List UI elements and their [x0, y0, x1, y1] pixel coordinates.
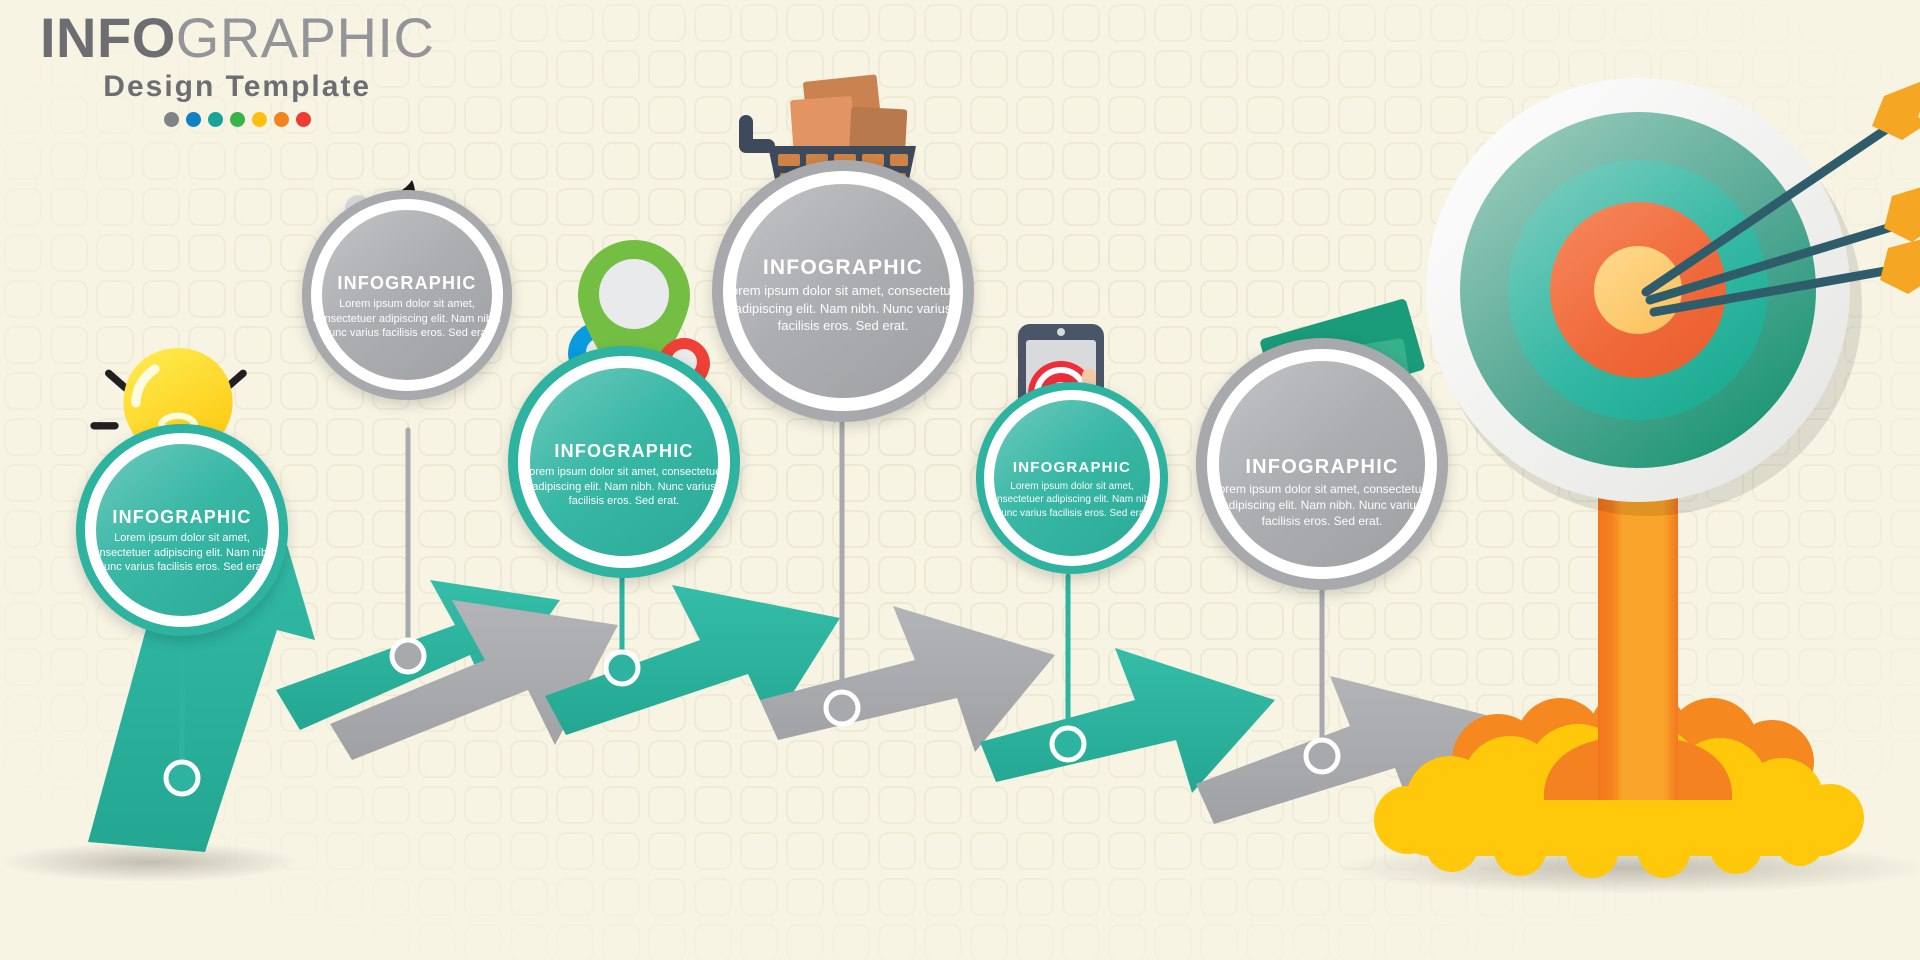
step-3-text: INFOGRAPHIC Lorem ipsum dolor sit amet, … [508, 442, 740, 509]
arrow-fletchings [1872, 78, 1920, 294]
title-thin-part: GRAPHIC [176, 6, 435, 69]
step-node-6[interactable]: INFOGRAPHIC Lorem ipsum dolor sit amet, … [1196, 338, 1448, 590]
step-4-body: Lorem ipsum dolor sit amet, consectetuer… [720, 282, 966, 335]
title-bold-part: INFO [40, 6, 176, 69]
step-2-title: INFOGRAPHIC [310, 274, 504, 294]
palette-dot-row [40, 112, 434, 127]
step-3-title: INFOGRAPHIC [516, 442, 732, 462]
dot-orange [274, 112, 289, 127]
step-5-title: INFOGRAPHIC [984, 460, 1160, 477]
step-node-4[interactable]: INFOGRAPHIC Lorem ipsum dolor sit amet, … [712, 160, 974, 422]
step-node-1[interactable]: INFOGRAPHIC Lorem ipsum dolor sit amet, … [76, 424, 288, 636]
subtitle: Design Template [40, 70, 434, 104]
step-5-body: Lorem ipsum dolor sit amet, consectetuer… [984, 480, 1160, 521]
dot-gray [164, 112, 179, 127]
step-2-text: INFOGRAPHIC Lorem ipsum dolor sit amet, … [302, 274, 512, 341]
step-5-text: INFOGRAPHIC Lorem ipsum dolor sit amet, … [976, 460, 1168, 520]
dot-green [230, 112, 245, 127]
step-2-body: Lorem ipsum dolor sit amet, consectetuer… [310, 297, 504, 342]
scene-graphics: $ $ $ [0, 0, 1920, 960]
infographic-canvas: $ $ $ [0, 0, 1920, 960]
step-1-body: Lorem ipsum dolor sit amet, consectetuer… [84, 531, 280, 576]
step-4-title: INFOGRAPHIC [720, 256, 966, 279]
step-6-text: INFOGRAPHIC Lorem ipsum dolor sit amet, … [1196, 456, 1448, 530]
goal-launch-group [1374, 78, 1920, 878]
step-6-title: INFOGRAPHIC [1204, 456, 1440, 478]
dot-teal [208, 112, 223, 127]
step-1-title: INFOGRAPHIC [84, 508, 280, 528]
arrow-chevrons [330, 585, 1490, 824]
main-title: INFOGRAPHIC [40, 10, 434, 66]
step-node-2[interactable]: INFOGRAPHIC Lorem ipsum dolor sit amet, … [302, 190, 512, 400]
step-node-5[interactable]: INFOGRAPHIC Lorem ipsum dolor sit amet, … [976, 382, 1168, 574]
step-3-body: Lorem ipsum dolor sit amet, consectetuer… [516, 465, 732, 510]
step-6-body: Lorem ipsum dolor sit amet, consectetuer… [1204, 481, 1440, 530]
dot-red [296, 112, 311, 127]
dot-yellow [252, 112, 267, 127]
step-1-text: INFOGRAPHIC Lorem ipsum dolor sit amet, … [76, 508, 288, 575]
title-block: INFOGRAPHIC Design Template [40, 10, 434, 127]
step-4-text: INFOGRAPHIC Lorem ipsum dolor sit amet, … [712, 256, 974, 335]
dot-blue [186, 112, 201, 127]
target-rings [1426, 78, 1862, 516]
step-node-3[interactable]: INFOGRAPHIC Lorem ipsum dolor sit amet, … [508, 346, 740, 578]
